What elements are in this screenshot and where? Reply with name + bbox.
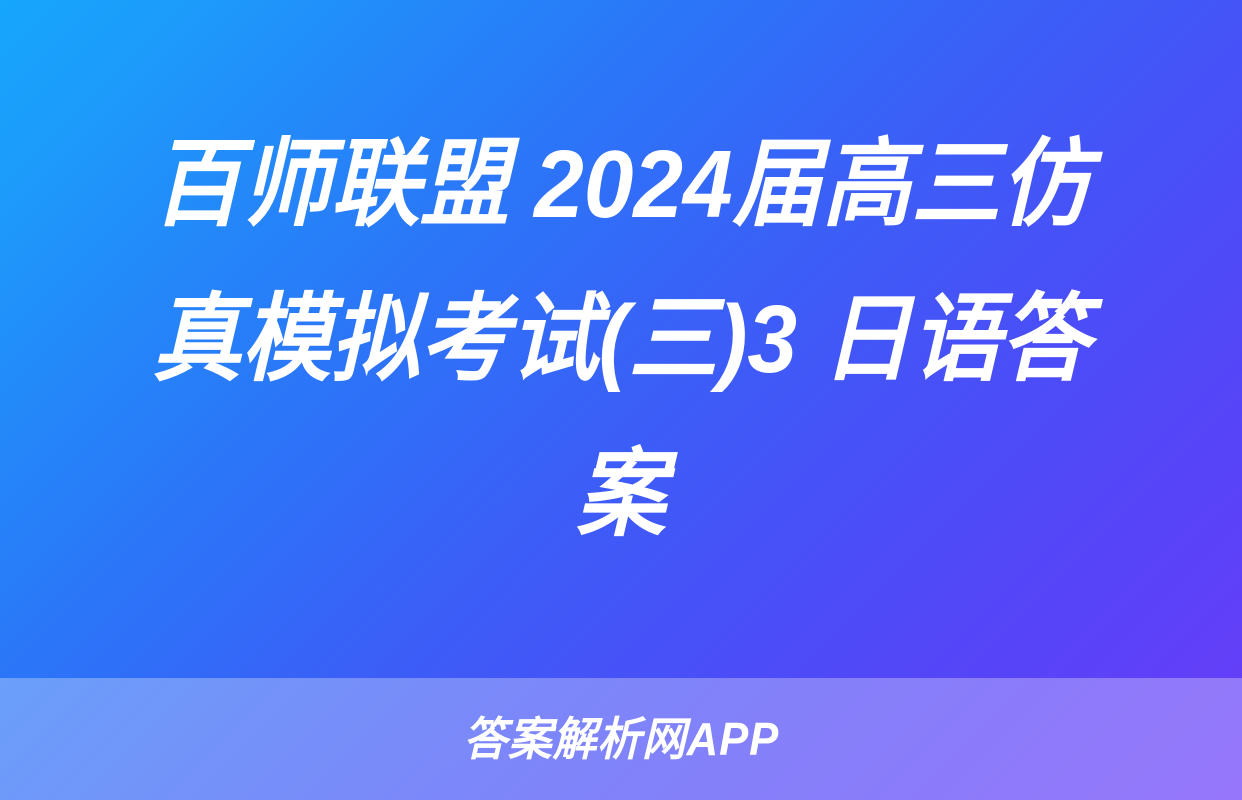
poster-card: 百师联盟 2024届高三仿真模拟考试(三)3 日语答案 答案解析网APP [0, 0, 1242, 800]
headline-container: 百师联盟 2024届高三仿真模拟考试(三)3 日语答案 [0, 0, 1242, 678]
page-title: 百师联盟 2024届高三仿真模拟考试(三)3 日语答案 [114, 107, 1128, 572]
watermark-container: 答案解析网APP [0, 678, 1242, 800]
watermark-brand-label: 答案解析网APP [463, 716, 779, 762]
